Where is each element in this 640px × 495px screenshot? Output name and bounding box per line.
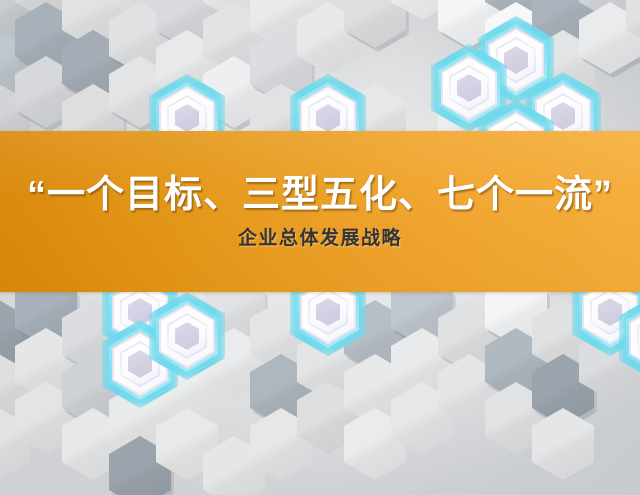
glowing-hexagon <box>626 302 640 374</box>
slide-subtitle: 企业总体发展战略 <box>238 229 402 248</box>
title-banner: “一个目标、三型五化、七个一流” 企业总体发展战略 <box>0 131 640 292</box>
slide-title: “一个目标、三型五化、七个一流” <box>27 176 613 214</box>
glowing-hexagon <box>156 300 218 372</box>
presentation-slide: “一个目标、三型五化、七个一流” 企业总体发展战略 <box>0 0 640 495</box>
